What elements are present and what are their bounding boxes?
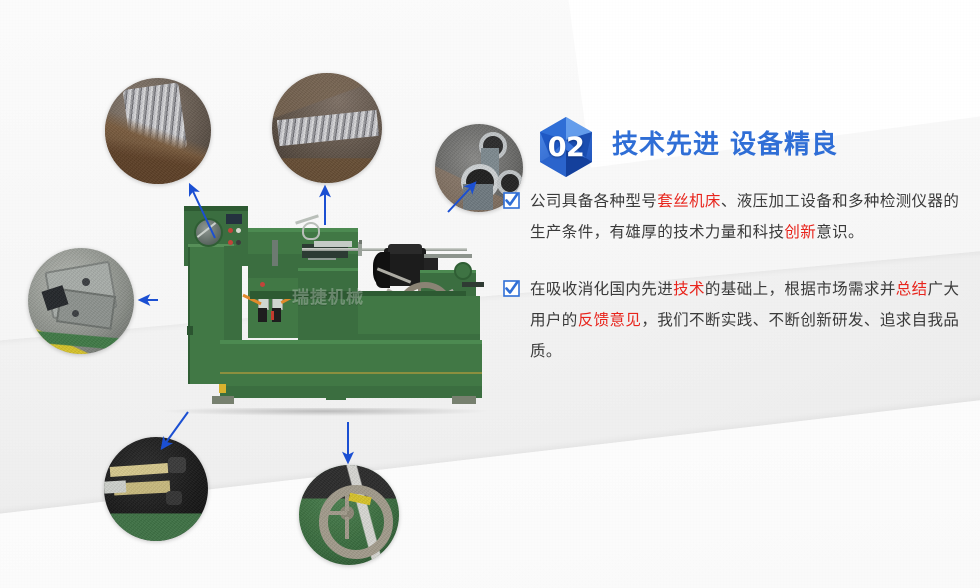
- body-text: 的基础上，根据市场需求并: [705, 280, 896, 298]
- checkbox-checked-icon: [503, 280, 520, 297]
- highlighted-text: 总结: [896, 280, 928, 298]
- section-header: 02 技术先进 设备精良: [503, 104, 963, 176]
- detail-cutting-head: [28, 248, 134, 354]
- detail-handwheel: [299, 465, 399, 565]
- bullet-text-2: 在吸收消化国内先进技术的基础上，根据市场需求并总结广大用户的反馈意见，我们不断实…: [530, 280, 959, 360]
- checkbox-checked-icon: [503, 192, 520, 209]
- detail-threaded-bar: [272, 73, 382, 183]
- bullet-text-1: 公司具备各种型号套丝机床、液压加工设备和多种检测仪器的生产条件，有雄厚的技术力量…: [530, 192, 959, 241]
- highlighted-text: 套丝机床: [657, 192, 721, 210]
- content-panel: 02 技术先进 设备精良 公司具备各种型号套丝机床、液压加工设备和多种检测仪器的…: [503, 104, 963, 393]
- detail-control-block: [104, 437, 208, 541]
- body-text: 公司具备各种型号: [530, 192, 657, 210]
- machine-shadow: [164, 408, 486, 416]
- body-text: 在吸收消化国内先进: [530, 280, 673, 298]
- machine-watermark: 瑞捷机械: [280, 285, 376, 311]
- page-title: 技术先进 设备精良: [612, 124, 838, 161]
- bullet-item-1: 公司具备各种型号套丝机床、液压加工设备和多种检测仪器的生产条件，有雄厚的技术力量…: [503, 186, 963, 248]
- machine-photo: 瑞捷机械: [162, 196, 492, 418]
- promo-banner: 瑞捷机械: [0, 0, 980, 588]
- detail-threaded-rod-close: [105, 78, 211, 184]
- body-text: 意识。: [816, 223, 864, 241]
- highlighted-text: 技术: [673, 280, 705, 298]
- badge-number: 02: [536, 116, 596, 178]
- highlighted-text: 反馈意见: [578, 311, 642, 329]
- bullet-item-2: 在吸收消化国内先进技术的基础上，根据市场需求并总结广大用户的反馈意见，我们不断实…: [503, 274, 963, 367]
- highlighted-text: 创新: [784, 223, 816, 241]
